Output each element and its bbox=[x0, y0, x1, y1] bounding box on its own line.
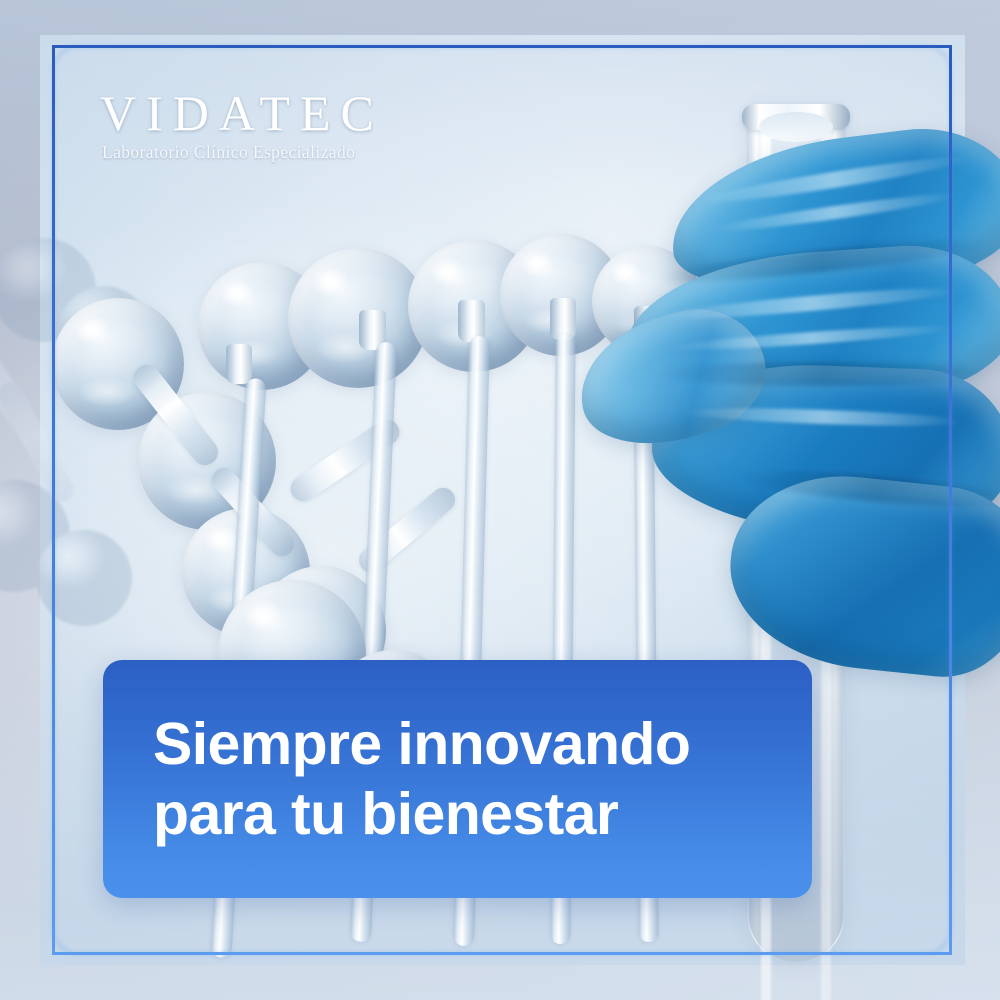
tagline-line-2: para tu bienestar bbox=[153, 779, 762, 849]
social-media-post-canvas: VIDATEC Laboratorio Clínico Especializad… bbox=[0, 0, 1000, 1000]
gloved-hand bbox=[612, 110, 1000, 670]
tagline-banner: Siempre innovando para tu bienestar bbox=[103, 660, 812, 898]
brand-subtitle: Laboratorio Clínico Especializado bbox=[102, 142, 520, 163]
brand-wordmark: VIDATEC bbox=[100, 88, 520, 138]
tagline-line-1: Siempre innovando bbox=[153, 709, 762, 779]
brand-logo: VIDATEC Laboratorio Clínico Especializad… bbox=[100, 88, 520, 163]
